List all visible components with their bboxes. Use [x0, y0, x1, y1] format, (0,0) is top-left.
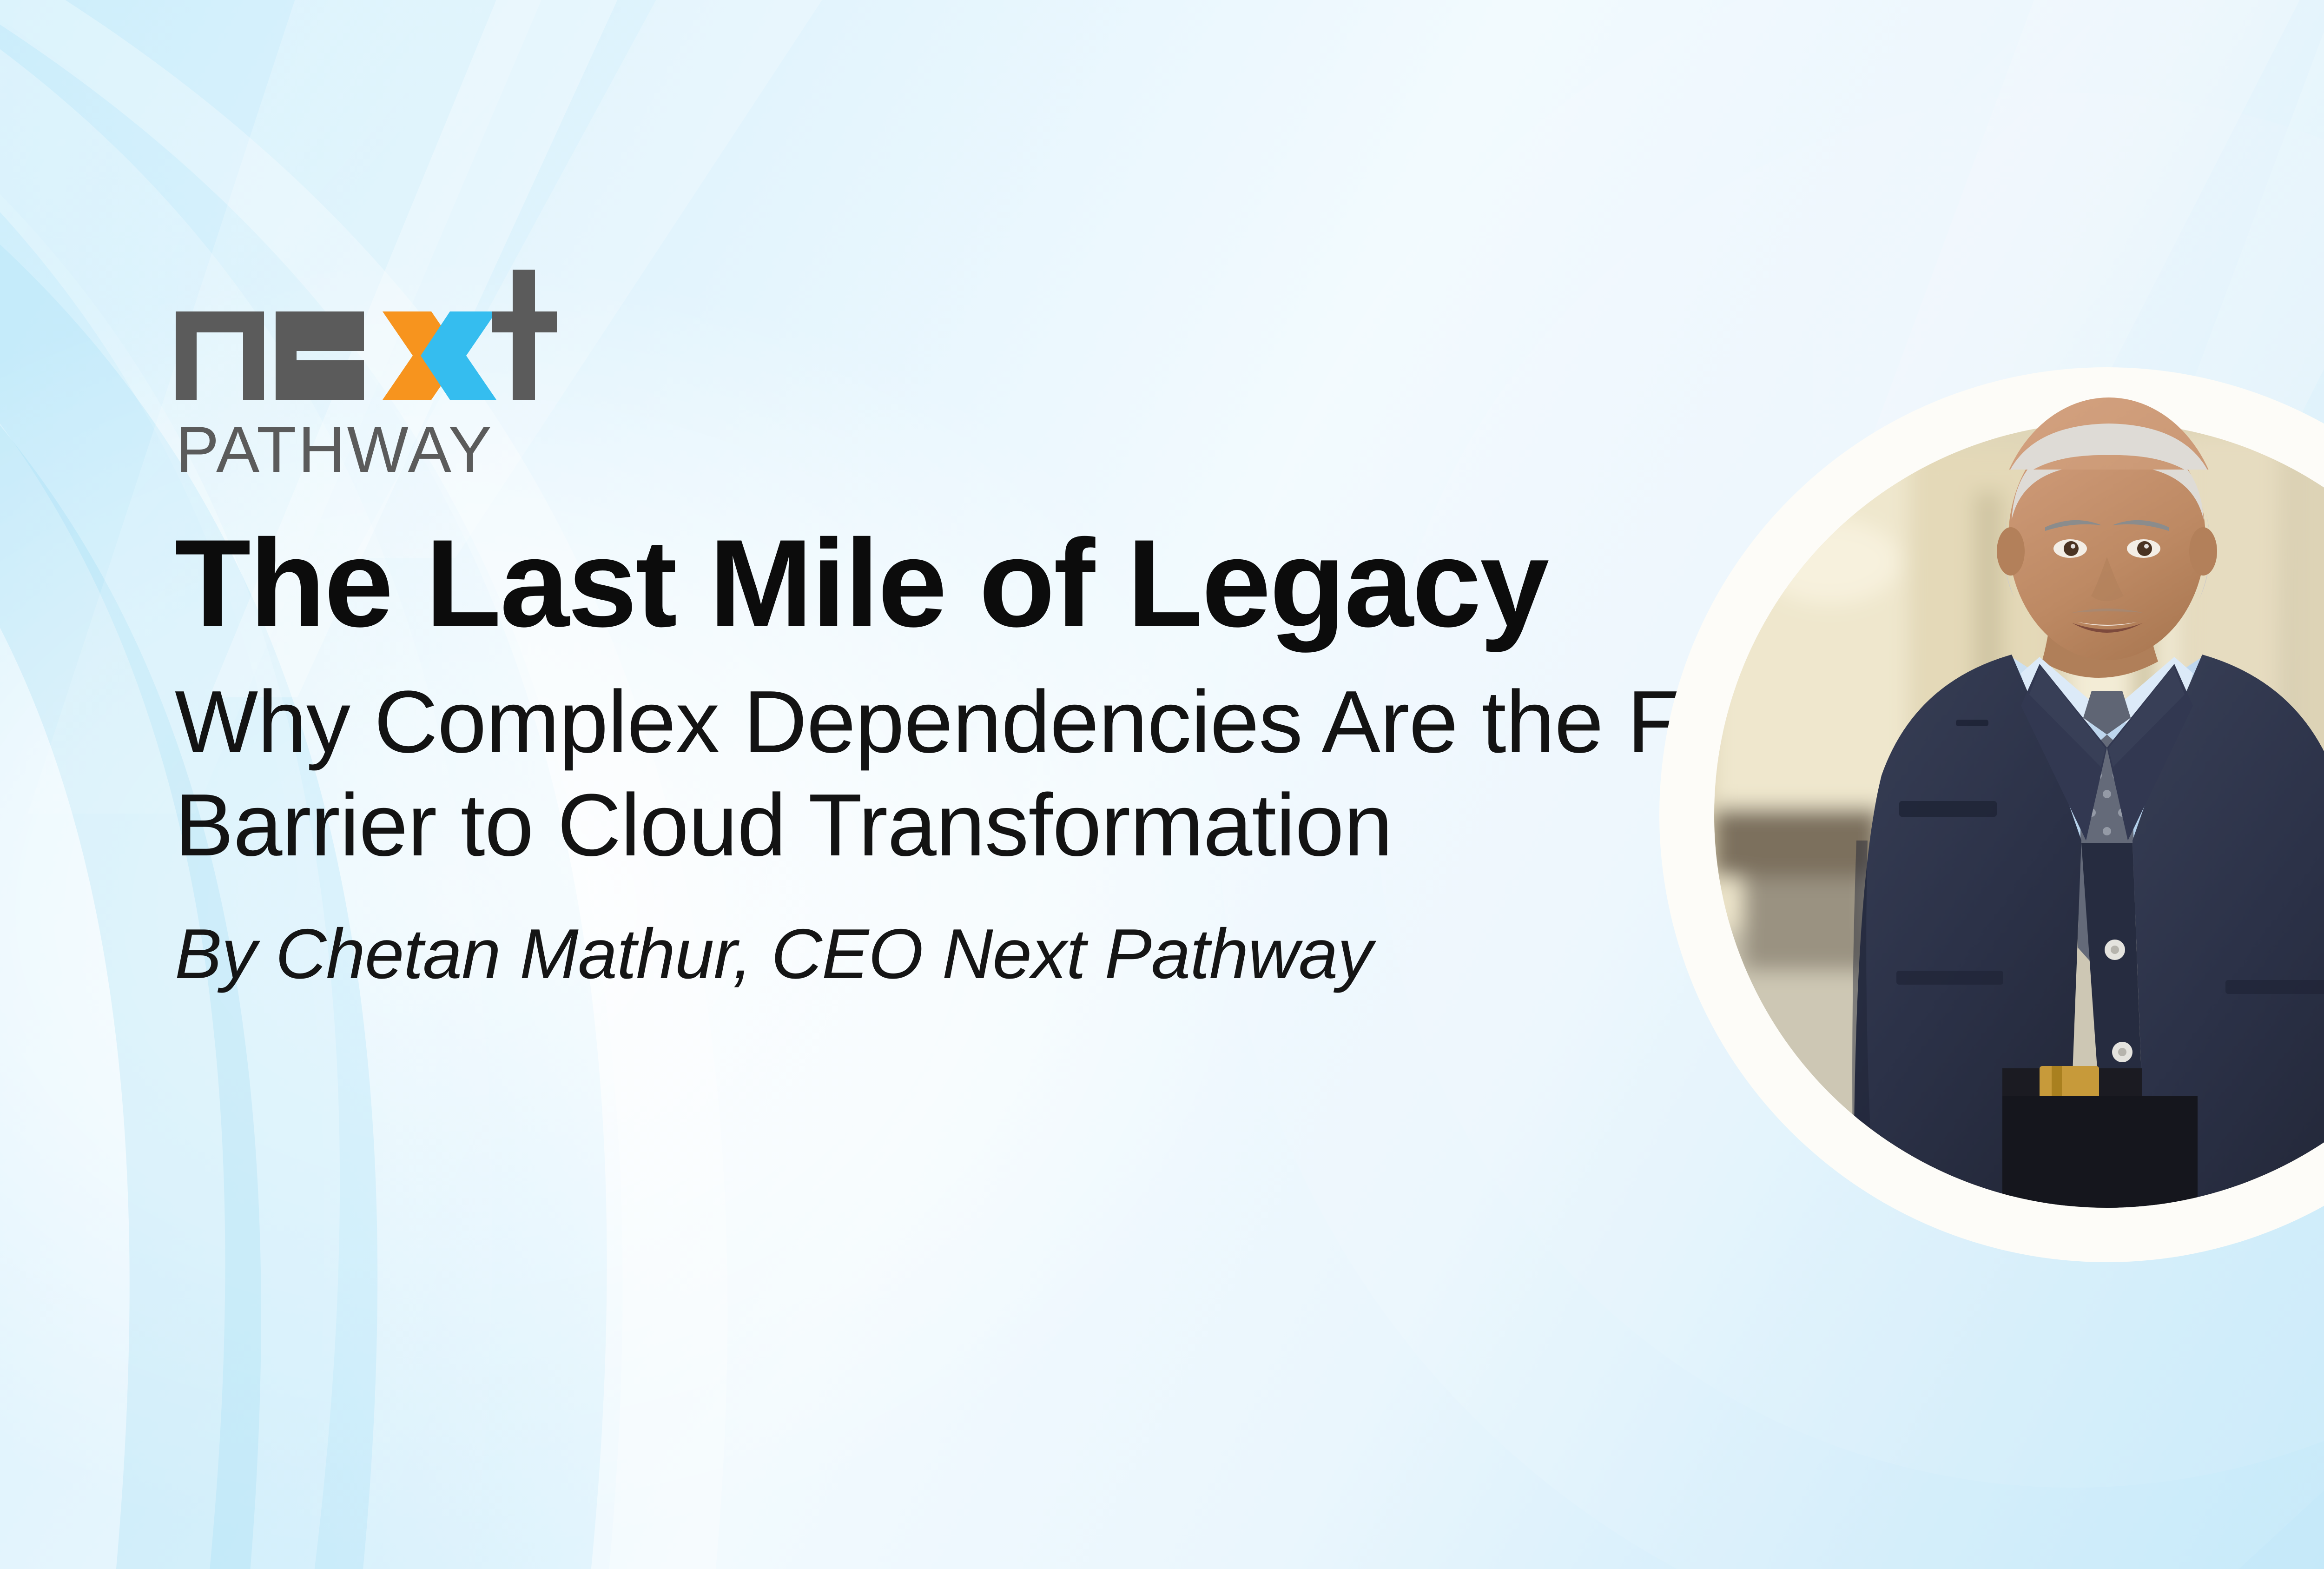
page-subtitle: Why Complex Dependencies Are the Final B… [175, 670, 1709, 877]
subtitle-line-1: Why Complex Dependencies Are the Final [175, 670, 1709, 774]
hero-text-block: The Last Mile of Legacy Why Complex Depe… [175, 521, 1709, 995]
page-title: The Last Mile of Legacy [175, 521, 1709, 645]
subtitle-line-2: Barrier to Cloud Transformation [175, 774, 1709, 877]
logo-wordmark-next [176, 270, 557, 400]
author-portrait [1659, 325, 2324, 1348]
belt-buckle [2040, 1066, 2099, 1099]
author-byline: By Chetan Mathur, CEO Next Pathway [175, 914, 1709, 995]
next-pathway-logo[interactable]: PATHWAY [171, 260, 580, 493]
logo-pathway-text: PATHWAY [176, 413, 494, 486]
